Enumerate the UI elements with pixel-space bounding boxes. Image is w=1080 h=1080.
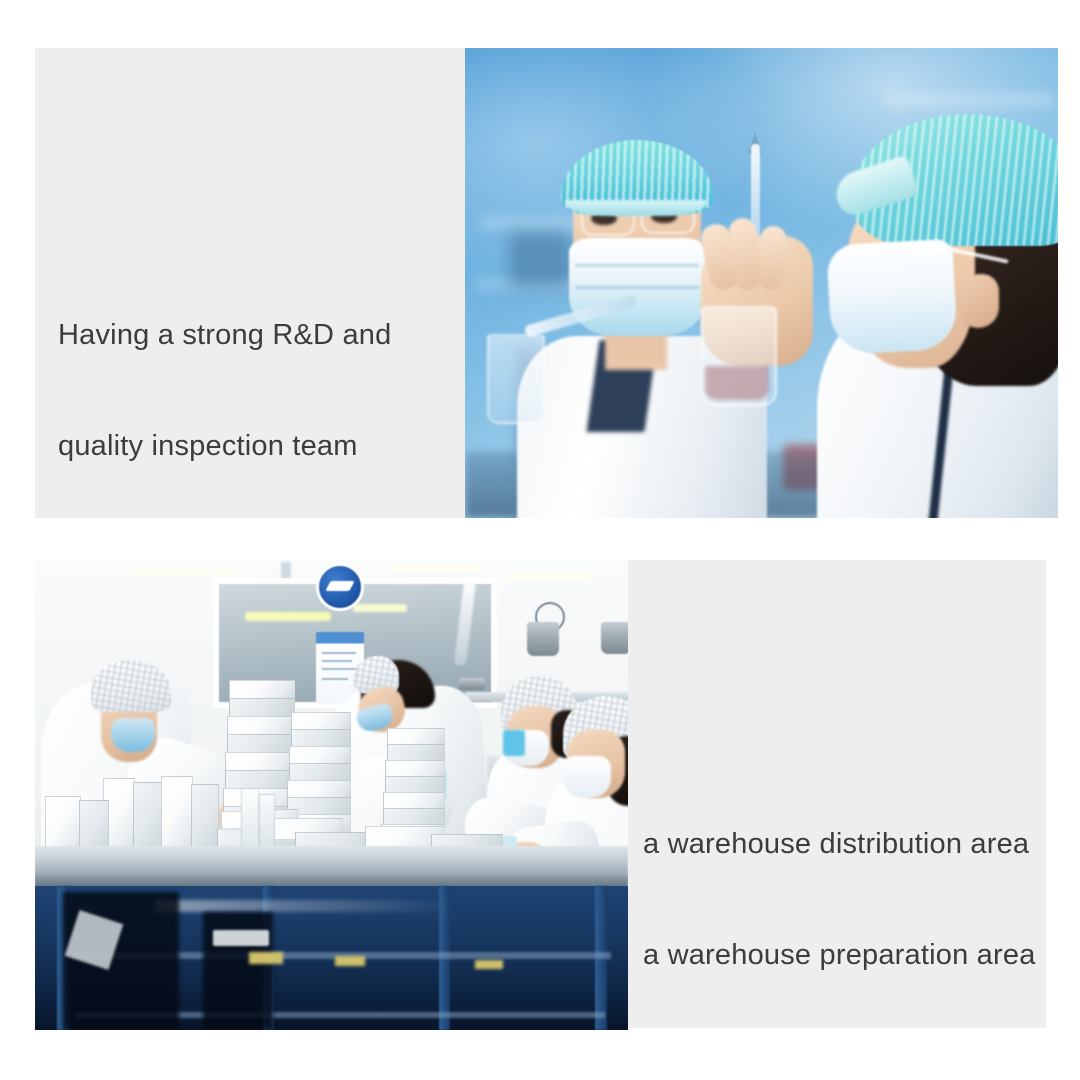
- caption-warehouse: a warehouse distribution area a warehous…: [643, 752, 1036, 1048]
- lab-flask: [487, 334, 545, 424]
- photo-rd-quality-lab: [465, 48, 1058, 518]
- carton-box-upright: [161, 776, 193, 854]
- paper-slip-decor: [213, 930, 269, 946]
- worker-right-face-mask: [826, 239, 958, 355]
- steel-pot: [527, 622, 559, 656]
- ceiling-light: [127, 570, 237, 576]
- poster-text-line-decor: [322, 660, 352, 662]
- poster-text-line-decor: [322, 652, 356, 654]
- photo-warehouse-packing: [35, 560, 628, 1030]
- floor-marking-decor: [475, 960, 503, 969]
- table-highlight-decor: [155, 900, 455, 912]
- ceiling-light: [391, 566, 483, 571]
- worker-d-face-mask: [563, 756, 611, 798]
- carton-box-upright: [133, 782, 163, 854]
- caption-line: Having a strong R&D and: [58, 317, 391, 354]
- marketing-image-page: Having a strong R&D and quality inspecti…: [0, 0, 1080, 1080]
- floor-marking-decor: [249, 952, 283, 964]
- lab-scene-background: [465, 48, 1058, 518]
- poster-text-line-decor: [322, 668, 358, 670]
- mask-fold-decor: [575, 264, 699, 267]
- caption-rd-quality: Having a strong R&D and quality inspecti…: [58, 243, 391, 539]
- lab-equipment-decor: [509, 232, 569, 288]
- mask-fold-decor: [575, 286, 699, 289]
- poster-text-line-decor: [322, 678, 348, 680]
- caption-line: a warehouse preparation area: [643, 937, 1036, 974]
- carton-box: [227, 716, 295, 736]
- steel-tray: [459, 678, 485, 690]
- blue-circular-sign-icon: [316, 563, 364, 611]
- worker-a-face-mask: [111, 718, 155, 752]
- carton-box: [229, 698, 295, 718]
- window-light-reflection: [245, 612, 331, 621]
- ceiling-light: [505, 574, 591, 579]
- carton-box: [227, 734, 295, 754]
- worker-right-ear: [959, 274, 999, 328]
- carton-box: [225, 752, 295, 772]
- floor-marking-decor: [335, 956, 365, 966]
- warehouse-scene-background: [35, 560, 628, 1030]
- carton-box: [229, 680, 295, 700]
- lab-shelf-decor: [885, 94, 1055, 106]
- product-vial: [259, 794, 275, 852]
- caption-line: quality inspection team: [58, 428, 391, 465]
- carton-box: [225, 770, 295, 790]
- worker-left-hairnet-brim: [565, 200, 707, 216]
- caption-line: a warehouse distribution area: [643, 826, 1036, 863]
- blue-accent-decor: [503, 730, 525, 756]
- lab-beaker-liquid: [705, 366, 769, 400]
- steel-pot: [601, 622, 628, 654]
- window-light-reflection: [353, 604, 407, 612]
- carton-box-upright: [191, 784, 219, 854]
- product-vial: [241, 788, 259, 852]
- hand-finger: [757, 225, 787, 291]
